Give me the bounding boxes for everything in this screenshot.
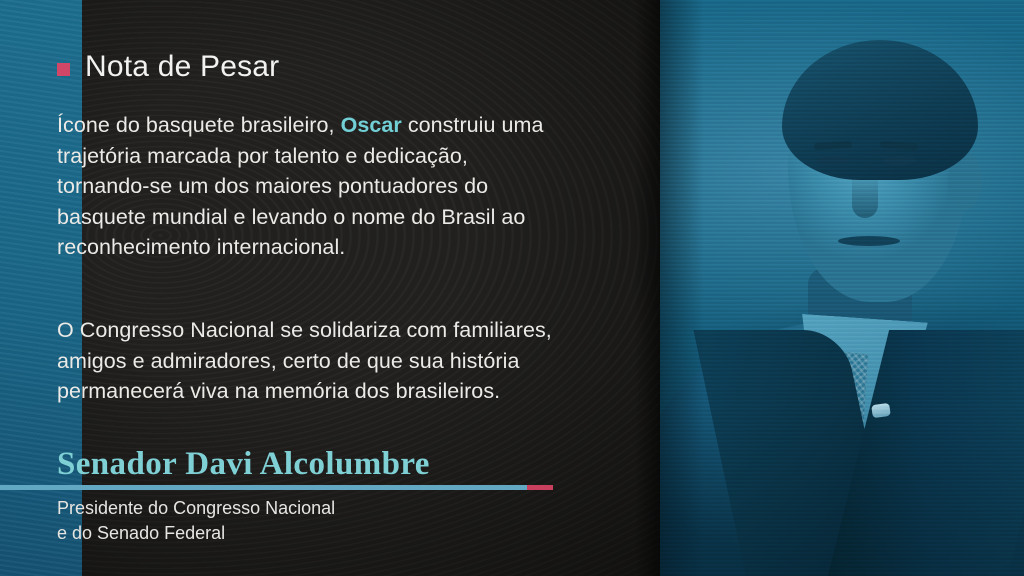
signature-name: Senador Davi Alcolumbre bbox=[57, 446, 430, 483]
kicker-row: Nota de Pesar bbox=[57, 52, 279, 82]
paragraph-2: O Congresso Nacional se solidariza com f… bbox=[57, 315, 557, 407]
paragraph-1: Ícone do basquete brasileiro, Oscar cons… bbox=[57, 110, 557, 263]
highlight-oscar: Oscar bbox=[341, 113, 402, 137]
paragraph-1-part-a: Ícone do basquete brasileiro, bbox=[57, 113, 341, 137]
accent-rule-teal bbox=[0, 485, 527, 490]
square-bullet-icon bbox=[57, 63, 70, 76]
signature-role: Presidente do Congresso Nacional e do Se… bbox=[57, 496, 335, 546]
accent-rule bbox=[0, 485, 553, 490]
page-title: Nota de Pesar bbox=[85, 52, 279, 82]
slide-root: Retrato do Senador Davi Alcolumbre em du… bbox=[0, 0, 1024, 576]
accent-rule-pink bbox=[527, 485, 553, 490]
signature-role-line-1: Presidente do Congresso Nacional bbox=[57, 496, 335, 521]
signature-role-line-2: e do Senado Federal bbox=[57, 521, 335, 546]
